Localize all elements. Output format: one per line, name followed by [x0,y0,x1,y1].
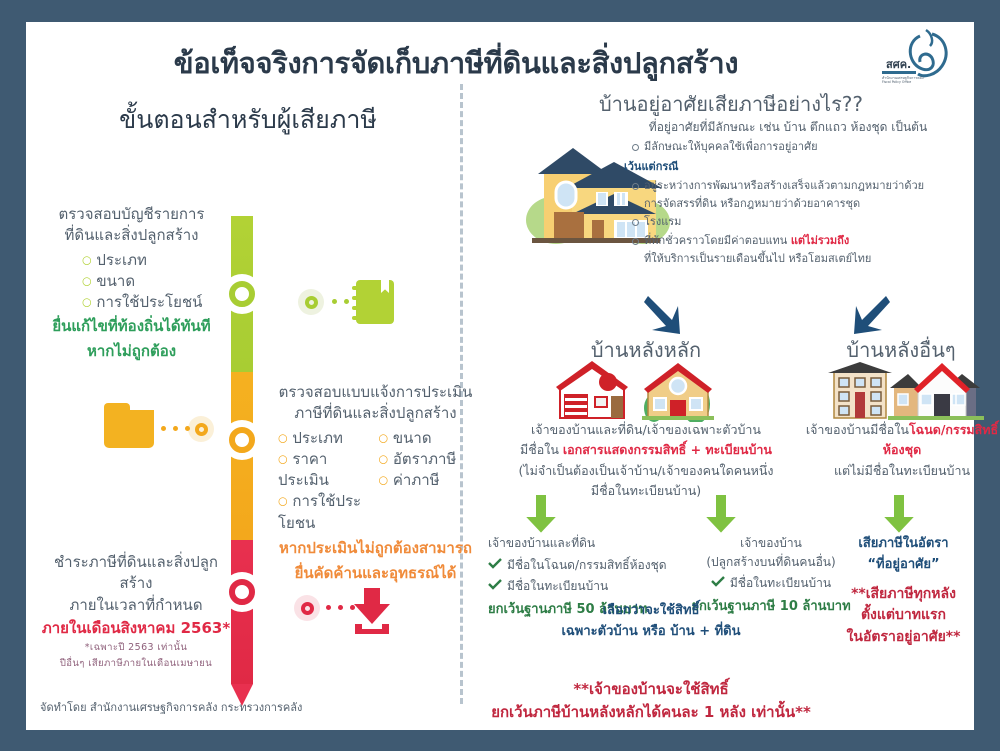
dot-connector-2 [161,426,190,431]
step-1-bullet-2: ○ ขนาด [82,271,219,292]
group-1-line2: มีชื่อใน เอกสารแสดงกรรมสิทธิ์ + ทะเบียนบ… [488,440,804,460]
infographic-frame: ข้อเท็จจริงการจัดเก็บภาษีที่ดินและสิ่งปล… [26,22,974,730]
step-1-title-line2: ที่ดินและสิ่งปลูกสร้าง [44,225,219,246]
step-1-highlight-line1: ยื่นแก้ไขที่ท้องถิ่นได้ทันที [44,316,219,337]
step-2-bullet-l2: ○ ราคาประเมิน [278,449,373,492]
green-arrow-3-icon [880,492,918,536]
step-1-bullet-3: ○ การใช้ประโยชน์ [82,292,219,313]
apartment-houses-icon [826,358,986,422]
step-3-title-line2: ภายในเวลาที่กำหนด [38,595,234,616]
svg-text:Fiscal Policy Office: Fiscal Policy Office [882,80,911,84]
choice-note-line2: เฉพาะตัวบ้าน หรือ บ้าน + ที่ดิน [486,621,816,642]
other-rate-line2: “ที่อยู่อาศัย” [816,555,991,576]
other-rate-line1: เสียภาษีในอัตรา [816,534,991,555]
step-2-text: ตรวจสอบแบบแจ้งการประเมิน ภาษีที่ดินและสิ… [278,382,473,585]
other-rate-red-line2: ตั้งแต่บาทแรก [816,605,991,627]
green-arrow-1-icon [522,492,560,536]
step-1-bullet-1: ○ ประเภท [82,250,219,271]
group-1-body: เจ้าของบ้านและที่ดิน/เจ้าของเฉพาะตัวบ้าน… [488,420,804,501]
blue-arrow-left-icon [642,294,682,338]
notebook-icon [356,280,394,324]
step-3-title-line1: ชำระภาษีที่ดินและสิ่งปลูกสร้าง [38,552,234,595]
fpo-logo-icon: สศค. สำนักงานเศรษฐกิจการคลัง Fiscal Poli… [862,28,966,90]
other-rate-red-line3: ในอัตราอยู่อาศัย** [816,627,991,649]
check-icon [711,576,725,587]
exception-1-line1: อยู่ระหว่างการพัฒนาหรือสร้างเสร็จแล้วตาม… [632,177,966,195]
step-2-bullet-l1: ○ ประเภท [278,428,373,449]
download-icon [351,588,393,634]
svg-text:สศค.: สศค. [886,58,911,71]
left-column-heading: ขั้นตอนสำหรับผู้เสียภาษี [48,100,448,140]
right-column-heading: บ้านอยู่อาศัยเสียภาษีอย่างไร?? [496,88,966,120]
exception-3-line2: ที่ให้บริการเป็นรายเดือนขึ้นไป หรือโฮมสเ… [632,250,966,268]
timeline-mini-node-1 [298,289,324,315]
check-icon [488,579,502,590]
group-2-body: เจ้าของบ้านมีชื่อในโฉนด/กรรมสิทธิ์ห้องชุ… [802,420,1000,481]
timeline-mini-node-3 [294,595,320,621]
two-houses-icon [556,360,741,422]
main-house-limit-note: **เจ้าของบ้านจะใช้สิทธิ์ ยกเว้นภาษีบ้านห… [466,678,836,723]
group-1-line1: เจ้าของบ้านและที่ดิน/เจ้าของเฉพาะตัวบ้าน [488,420,804,440]
exception-2: โรงแรม [632,213,966,231]
limit-note-line2: ยกเว้นภาษีบ้านหลังหลักได้คนละ 1 หลัง เท่… [466,701,836,724]
step-2-bullet-r3: ○ ค่าภาษี [379,470,474,491]
step-2-highlight-line2: ยื่นคัดค้านและอุทธรณ์ได้ [278,563,473,584]
step-3-footnote-line1: *เฉพาะปี 2563 เท่านั้น [38,641,234,655]
case-1-check-2: มีชื่อในทะเบียนบ้าน [488,577,683,596]
residence-definition: ที่อยู่อาศัยที่มีลักษณะ เช่น บ้าน ตึกแถว… [610,118,966,268]
blue-arrow-right-icon [852,294,892,338]
group-1-line2-red: เอกสารแสดงกรรมสิทธิ์ + ทะเบียนบ้าน [563,442,772,457]
intro-bullet: มีลักษณะให้บุคคลใช้เพื่อการอยู่อาศัย [632,138,966,156]
case-1-check-1: มีชื่อในโฉนด/กรรมสิทธิ์ห้องชุด [488,556,683,575]
timeline-node-2 [222,420,262,460]
timeline-node-1 [222,274,262,314]
step-3-footnote-line2: ปีอื่นๆ เสียภาษีภายในเดือนเมษายน [38,657,234,671]
step-1-text: ตรวจสอบบัญชีรายการ ที่ดินและสิ่งปลูกสร้า… [44,204,219,362]
group-1-line3: (ไม่จำเป็นต้องเป็นเจ้าบ้าน/เจ้าของคนใดคน… [488,461,804,481]
group-2-line2: แต่ไม่มีชื่อในทะเบียนบ้าน [802,461,1000,481]
step-3-text: ชำระภาษีที่ดินและสิ่งปลูกสร้าง ภายในเวลา… [38,552,234,672]
intro-lead: ที่อยู่อาศัยที่มีลักษณะ เช่น บ้าน ตึกแถว… [610,118,966,138]
footer-credit: จัดทำโดย สำนักงานเศรษฐกิจการคลัง กระทรวง… [40,698,302,716]
step-1-title-line1: ตรวจสอบบัญชีรายการ [44,204,219,225]
timeline-segment-red [231,540,253,684]
check-icon [488,558,502,569]
choice-note: เลือกว่าจะใช้สิทธิ์ เฉพาะตัวบ้าน หรือ บ้… [486,600,816,643]
step-2-title-line2: ภาษีที่ดินและสิ่งปลูกสร้าง [278,403,473,424]
step-3-highlight: ภายในเดือนสิงหาคม 2563* [38,618,234,639]
step-2-highlight-line1: หากประเมินไม่ถูกต้องสามารถ [278,538,473,559]
green-arrow-2-icon [702,492,740,536]
exception-1-line2: การจัดสรรที่ดิน หรือกฎหมายว่าด้วยอาคารชุ… [632,195,966,213]
exception-3-line1: ที่พักชั่วคราวโดยมีค่าตอบแทน แต่ไม่รวมถึ… [632,232,966,250]
limit-note-line1: **เจ้าของบ้านจะใช้สิทธิ์ [466,678,836,701]
step-2-bullet-l3: ○ การใช้ประโยชน [278,491,373,534]
folder-icon [104,410,154,448]
exception-3-red: แต่ไม่รวมถึง [791,234,849,247]
step-2-bullet-r1: ○ ขนาด [379,428,474,449]
page-title: ข้อเท็จจริงการจัดเก็บภาษีที่ดินและสิ่งปล… [26,40,886,86]
other-house-rate-block: เสียภาษีในอัตรา “ที่อยู่อาศัย” **เสียภาษ… [816,534,991,649]
step-1-highlight-line2: หากไม่ถูกต้อง [44,341,219,362]
timeline-mini-node-2 [188,416,214,442]
group-2-line1: เจ้าของบ้านมีชื่อในโฉนด/กรรมสิทธิ์ห้องชุ… [802,420,1000,461]
case-1-head: เจ้าของบ้านและที่ดิน [488,534,683,553]
step-2-title-line1: ตรวจสอบแบบแจ้งการประเมิน [278,382,473,403]
exception-label: เว้นแต่กรณี [624,158,966,176]
choice-note-line1: เลือกว่าจะใช้สิทธิ์ [486,600,816,621]
step-2-bullet-r2: ○ อัตราภาษี [379,449,474,470]
other-rate-red-line1: **เสียภาษีทุกหลัง [816,584,991,606]
